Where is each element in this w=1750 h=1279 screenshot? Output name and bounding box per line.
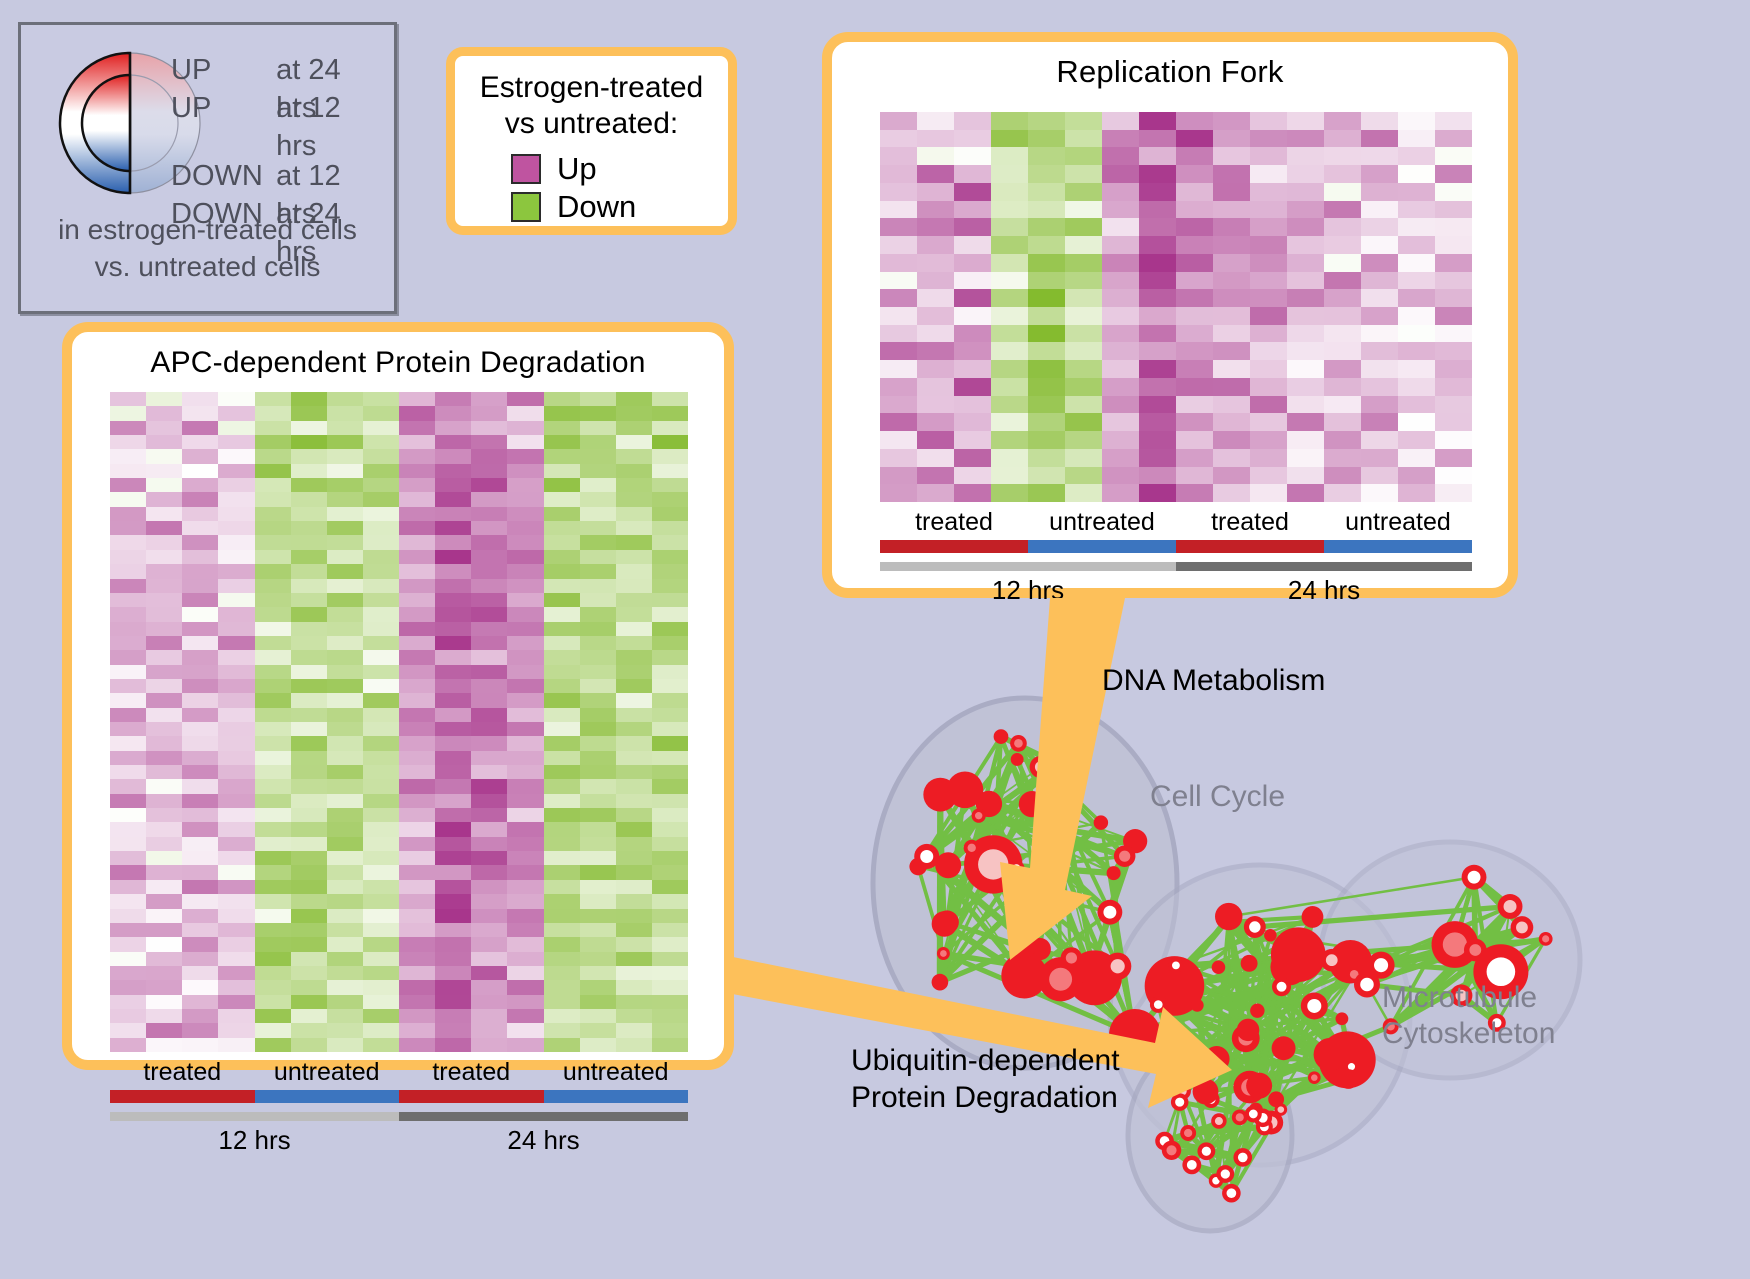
heatmap-cell: [991, 254, 1028, 272]
heatmap-cell: [1028, 130, 1065, 148]
heatmap-cell: [544, 679, 580, 693]
network-node[interactable]: [1212, 960, 1226, 974]
heatmap-cell: [291, 622, 327, 636]
heatmap-cell: [652, 851, 688, 865]
heatmap-cell: [1028, 431, 1065, 449]
heatmap-cell: [954, 130, 991, 148]
heatmap-cell: [291, 550, 327, 564]
network-node[interactable]: [1094, 815, 1108, 829]
heatmap-cell: [218, 1009, 254, 1023]
heatmap-cell: [146, 521, 182, 535]
network-node[interactable]: [972, 809, 986, 823]
network-node[interactable]: [932, 911, 958, 937]
heatmap-cell: [146, 392, 182, 406]
heatmap-cell: [327, 564, 363, 578]
panel-replication-fork: Replication Fork treateduntreatedtreated…: [822, 32, 1518, 598]
heatmap-cell: [471, 794, 507, 808]
node-inner-core: [1249, 1110, 1258, 1119]
heatmap-cell: [1324, 431, 1361, 449]
heatmap-cell: [507, 564, 543, 578]
network-node[interactable]: [1462, 865, 1487, 890]
heatmap-cell: [435, 579, 471, 593]
axis-apc: treateduntreatedtreateduntreated 12 hrs2…: [110, 1058, 688, 1156]
heatmap-cell: [1102, 218, 1139, 236]
heatmap-cell: [1324, 413, 1361, 431]
heatmap-cell: [507, 765, 543, 779]
heatmap-cell: [363, 980, 399, 994]
network-node[interactable]: [932, 974, 949, 991]
heatmap-cell: [471, 923, 507, 937]
heatmap-cell: [544, 1023, 580, 1037]
heatmap-cell: [1139, 307, 1176, 325]
network-node[interactable]: [1182, 1155, 1201, 1174]
heatmap-cell: [182, 679, 218, 693]
network-node[interactable]: [1019, 791, 1045, 817]
heatmap-cell: [182, 421, 218, 435]
network-node[interactable]: [1104, 953, 1131, 980]
network-node[interactable]: [1191, 999, 1204, 1012]
heatmap-cell: [1287, 218, 1324, 236]
cluster-label-ubiquitin-protein-degradation: Ubiquitin-dependent Protein Degradation: [851, 1042, 1120, 1116]
heatmap-cell: [399, 937, 435, 951]
network-node[interactable]: [1314, 1038, 1347, 1071]
condition-labels: treateduntreatedtreateduntreated: [110, 1058, 688, 1087]
heatmap-cell: [1213, 254, 1250, 272]
timepoint-color-bar: [110, 1112, 688, 1121]
heatmap-cell: [1287, 165, 1324, 183]
heatmap-cell: [544, 521, 580, 535]
heatmap-cell: [1361, 147, 1398, 165]
heatmap-cell: [1102, 484, 1139, 502]
heatmap-cell: [363, 751, 399, 765]
heatmap-cell: [218, 521, 254, 535]
heatmap-cell: [399, 535, 435, 549]
heatmap-cell: [471, 822, 507, 836]
heatmap-cell: [507, 851, 543, 865]
node-outer-ring: [1013, 936, 1036, 959]
heatmap-cell: [1287, 254, 1324, 272]
heatmap-cell: [1361, 130, 1398, 148]
heatmap-cell: [146, 952, 182, 966]
heatmap-cell: [399, 794, 435, 808]
heatmap-cell: [399, 650, 435, 664]
heatmap-cell: [182, 894, 218, 908]
network-node[interactable]: [1107, 866, 1121, 880]
heatmap-cell: [218, 995, 254, 1009]
network-node[interactable]: [1216, 1165, 1234, 1183]
network-node[interactable]: [1079, 962, 1102, 985]
heatmap-cell: [544, 449, 580, 463]
network-node[interactable]: [937, 947, 950, 960]
heatmap-cell: [580, 708, 616, 722]
heatmap-cell: [1361, 431, 1398, 449]
network-node[interactable]: [1061, 947, 1082, 968]
network-node[interactable]: [1233, 1148, 1252, 1167]
heatmap-cell: [616, 679, 652, 693]
heatmap-cell: [182, 392, 218, 406]
heatmap-cell: [1324, 484, 1361, 502]
heatmap-cell: [291, 435, 327, 449]
heatmap-cell: [327, 937, 363, 951]
network-node[interactable]: [1151, 980, 1171, 1000]
heatmap-cell: [1028, 112, 1065, 130]
heatmap-cell: [580, 937, 616, 951]
network-node[interactable]: [1250, 1003, 1264, 1017]
heatmap-cell: [954, 396, 991, 414]
heatmap-cell: [291, 392, 327, 406]
heatmap-cell: [146, 464, 182, 478]
network-node[interactable]: [1215, 903, 1242, 930]
heatmap-cell: [652, 607, 688, 621]
heatmap-cell: [1398, 236, 1435, 254]
heatmap-cell: [399, 880, 435, 894]
network-node[interactable]: [1301, 992, 1328, 1019]
heatmap-cell: [399, 449, 435, 463]
heatmap-cell: [991, 431, 1028, 449]
network-node[interactable]: [923, 778, 957, 812]
network-node[interactable]: [1114, 845, 1136, 867]
heatmap-cell: [544, 794, 580, 808]
heatmap-cell: [1213, 325, 1250, 343]
heatmap-cell: [435, 1023, 471, 1037]
heatmap-cell: [255, 622, 291, 636]
heatmap-cell: [255, 406, 291, 420]
network-node[interactable]: [1498, 894, 1523, 919]
heatmap-cell: [291, 521, 327, 535]
heatmap-cell: [991, 484, 1028, 502]
heatmap-cell: [1435, 201, 1472, 219]
network-node[interactable]: [1008, 860, 1024, 876]
condition-label: untreated: [1028, 508, 1176, 537]
heatmap-cell: [1065, 236, 1102, 254]
heatmap-cell: [1213, 449, 1250, 467]
heatmap-cell: [1398, 396, 1435, 414]
network-node[interactable]: [1197, 1142, 1215, 1160]
network-node[interactable]: [1176, 1050, 1198, 1072]
heatmap-cell: [399, 837, 435, 851]
heatmap-cell: [1287, 130, 1324, 148]
heatmap-cell: [255, 909, 291, 923]
condition-labels: treateduntreatedtreateduntreated: [880, 508, 1472, 537]
heatmap-cell: [471, 564, 507, 578]
heatmap-cell: [471, 765, 507, 779]
heatmap-cell: [652, 593, 688, 607]
heatmap-cell: [652, 880, 688, 894]
heatmap-cell: [917, 307, 954, 325]
node-outer-ring: [1271, 927, 1326, 982]
heatmap-cell: [1361, 218, 1398, 236]
heatmap-cell: [435, 492, 471, 506]
heatmap-cell: [471, 851, 507, 865]
heatmap-cell: [954, 289, 991, 307]
heatmap-cell: [182, 1038, 218, 1052]
network-node[interactable]: [964, 840, 980, 856]
heatmap-cell: [616, 392, 652, 406]
heatmap-cell: [652, 622, 688, 636]
heatmap-cell: [182, 751, 218, 765]
heatmap-cell: [880, 218, 917, 236]
heatmap-replication-fork: [880, 112, 1472, 502]
network-node[interactable]: [1244, 916, 1266, 938]
heatmap-cell: [954, 272, 991, 290]
network-node[interactable]: [1232, 1109, 1248, 1125]
node-outer-ring: [1094, 815, 1108, 829]
heatmap-cell: [291, 794, 327, 808]
heatmap-cell: [435, 679, 471, 693]
heatmap-cell: [1435, 467, 1472, 485]
heatmap-cell: [616, 535, 652, 549]
heatmap-cell: [327, 837, 363, 851]
heatmap-cell: [880, 165, 917, 183]
heatmap-cell: [218, 579, 254, 593]
heatmap-cell: [616, 607, 652, 621]
heatmap-cell: [255, 435, 291, 449]
heatmap-cell: [1139, 325, 1176, 343]
network-node[interactable]: [1464, 939, 1487, 962]
network-node[interactable]: [1273, 937, 1291, 955]
heatmap-cell: [1324, 254, 1361, 272]
heatmap-cell: [1398, 342, 1435, 360]
heatmap-cell: [917, 413, 954, 431]
heatmap-cell: [917, 467, 954, 485]
network-node[interactable]: [1272, 1036, 1296, 1060]
heatmap-cell: [363, 851, 399, 865]
network-node[interactable]: [1013, 936, 1036, 959]
heatmap-cell: [616, 937, 652, 951]
heatmap-cell: [146, 966, 182, 980]
heatmap-cell: [991, 378, 1028, 396]
heatmap-cell: [327, 980, 363, 994]
network-node[interactable]: [1264, 929, 1277, 942]
heatmap-cell: [991, 147, 1028, 165]
network-node[interactable]: [1320, 949, 1343, 972]
network-node[interactable]: [1011, 753, 1024, 766]
network-node[interactable]: [914, 844, 939, 869]
heatmap-cell: [544, 822, 580, 836]
heatmap-cell: [291, 421, 327, 435]
heatmap-cell: [544, 550, 580, 564]
heatmap-cell: [1287, 272, 1324, 290]
heatmap-cell: [110, 593, 146, 607]
heatmap-cell: [991, 183, 1028, 201]
network-node[interactable]: [1339, 1069, 1359, 1089]
heatmap-cell: [1361, 201, 1398, 219]
heatmap-cell: [363, 722, 399, 736]
heatmap-cell: [146, 550, 182, 564]
heatmap-cell: [363, 478, 399, 492]
heatmap-cell: [110, 464, 146, 478]
timepoint-label: 12 hrs: [880, 575, 1176, 606]
network-node[interactable]: [1241, 955, 1258, 972]
heatmap-cell: [544, 722, 580, 736]
timepoint-label: 24 hrs: [1176, 575, 1472, 606]
heatmap-cell: [917, 272, 954, 290]
node-inner-core: [1166, 1145, 1176, 1155]
heatmap-cell: [1139, 165, 1176, 183]
heatmap-cell: [146, 406, 182, 420]
heatmap-cell: [1435, 112, 1472, 130]
heatmap-cell: [1324, 165, 1361, 183]
heatmap-cell: [399, 507, 435, 521]
network-node[interactable]: [1222, 1184, 1241, 1203]
network-node[interactable]: [1246, 1073, 1272, 1099]
heatmap-cell: [1361, 378, 1398, 396]
heatmap-cell: [1398, 112, 1435, 130]
heatmap-cell: [471, 693, 507, 707]
heatmap-cell: [291, 507, 327, 521]
heatmap-cell: [652, 679, 688, 693]
network-node[interactable]: [1308, 1071, 1321, 1084]
heatmap-cell: [880, 307, 917, 325]
network-node[interactable]: [1030, 756, 1052, 778]
heatmap-cell: [146, 449, 182, 463]
heatmap-cell: [652, 937, 688, 951]
network-node[interactable]: [1272, 977, 1291, 996]
heatmap-cell: [110, 478, 146, 492]
condition-label: treated: [1176, 508, 1324, 537]
heatmap-cell: [1176, 484, 1213, 502]
heatmap-cell: [1361, 165, 1398, 183]
node-inner-core: [1542, 935, 1549, 942]
network-node[interactable]: [1245, 1105, 1262, 1122]
heatmap-cell: [435, 693, 471, 707]
heatmap-cell: [110, 693, 146, 707]
heatmap-cell: [363, 579, 399, 593]
heatmap-cell: [1102, 201, 1139, 219]
network-node[interactable]: [1336, 1012, 1349, 1025]
heatmap-cell: [1213, 289, 1250, 307]
node-inner-core: [1014, 739, 1023, 748]
heatmap-cell: [291, 593, 327, 607]
heatmap-cell: [327, 722, 363, 736]
heatmap-cell: [1102, 112, 1139, 130]
network-node[interactable]: [1204, 1046, 1230, 1072]
network-node[interactable]: [1211, 1113, 1226, 1128]
heatmap-cell: [110, 822, 146, 836]
heatmap-cell: [652, 837, 688, 851]
heatmap-cell: [399, 980, 435, 994]
heatmap-cell: [1139, 360, 1176, 378]
heatmap-cell: [580, 751, 616, 765]
heatmap-cell: [954, 165, 991, 183]
node-outer-ring: [1250, 1003, 1264, 1017]
network-node[interactable]: [1180, 1125, 1196, 1141]
heatmap-cell: [507, 880, 543, 894]
network-node[interactable]: [1168, 958, 1183, 973]
heatmap-cell: [363, 894, 399, 908]
heatmap-cell: [1398, 449, 1435, 467]
network-node[interactable]: [1302, 906, 1324, 928]
network-node[interactable]: [1271, 927, 1326, 982]
heatmap-cell: [435, 607, 471, 621]
heatmap-cell: [1250, 289, 1287, 307]
network-node[interactable]: [1171, 1093, 1189, 1111]
heatmap-cell: [652, 535, 688, 549]
heatmap-cell: [435, 751, 471, 765]
key-row-up-12: UP at 12 hrs: [171, 89, 386, 127]
heatmap-cell: [435, 937, 471, 951]
heatmap-cell: [218, 808, 254, 822]
heatmap-cell: [255, 550, 291, 564]
heatmap-cell: [1435, 431, 1472, 449]
legend-swatch-up: [511, 154, 541, 184]
network-node[interactable]: [1539, 932, 1553, 946]
heatmap-cell: [363, 937, 399, 951]
heatmap-cell: [255, 966, 291, 980]
network-node[interactable]: [1053, 820, 1068, 835]
heatmap-cell: [1435, 325, 1472, 343]
timepoint-bar-segment: [880, 562, 1176, 571]
heatmap-cell: [291, 894, 327, 908]
network-node[interactable]: [1368, 952, 1395, 979]
heatmap-cell: [182, 822, 218, 836]
heatmap-cell: [544, 851, 580, 865]
heatmap-cell: [399, 421, 435, 435]
heatmap-cell: [507, 421, 543, 435]
heatmap-cell: [218, 966, 254, 980]
heatmap-cell: [435, 851, 471, 865]
network-node[interactable]: [1511, 916, 1534, 939]
heatmap-cell: [435, 966, 471, 980]
heatmap-cell: [363, 837, 399, 851]
heatmap-cell: [507, 693, 543, 707]
heatmap-cell: [218, 751, 254, 765]
color-key-footer: in estrogen-treated cells vs. untreated …: [21, 211, 394, 285]
heatmap-cell: [471, 464, 507, 478]
heatmap-cell: [1139, 431, 1176, 449]
network-node[interactable]: [1193, 1079, 1219, 1105]
heatmap-cell: [182, 464, 218, 478]
node-inner-core: [1311, 1074, 1318, 1081]
heatmap-cell: [652, 564, 688, 578]
heatmap-cell: [327, 622, 363, 636]
heatmap-cell: [507, 923, 543, 937]
heatmap-cell: [146, 679, 182, 693]
network-node[interactable]: [1010, 735, 1027, 752]
network-node[interactable]: [1237, 1019, 1260, 1042]
heatmap-cell: [363, 1009, 399, 1023]
heatmap-cell: [471, 449, 507, 463]
heatmap-cell: [435, 593, 471, 607]
timepoint-labels: 12 hrs24 hrs: [880, 575, 1472, 606]
heatmap-cell: [255, 564, 291, 578]
heatmap-cell: [291, 535, 327, 549]
heatmap-cell: [954, 307, 991, 325]
heatmap-cell: [182, 736, 218, 750]
heatmap-cell: [218, 722, 254, 736]
heatmap-cell: [1213, 360, 1250, 378]
heatmap-cell: [327, 492, 363, 506]
heatmap-cell: [255, 492, 291, 506]
heatmap-cell: [1139, 218, 1176, 236]
heatmap-cell: [363, 406, 399, 420]
heatmap-cell: [399, 593, 435, 607]
heatmap-cell: [652, 751, 688, 765]
heatmap-cell: [327, 406, 363, 420]
heatmap-cell: [1435, 307, 1472, 325]
heatmap-cell: [399, 435, 435, 449]
heatmap-cell: [652, 435, 688, 449]
heatmap-cell: [435, 980, 471, 994]
network-node[interactable]: [994, 729, 1009, 744]
heatmap-cell: [363, 779, 399, 793]
heatmap-cell: [507, 622, 543, 636]
heatmap-cell: [544, 708, 580, 722]
network-node[interactable]: [1097, 900, 1122, 925]
network-node[interactable]: [1162, 1141, 1181, 1160]
heatmap-cell: [1398, 431, 1435, 449]
heatmap-cell: [435, 995, 471, 1009]
